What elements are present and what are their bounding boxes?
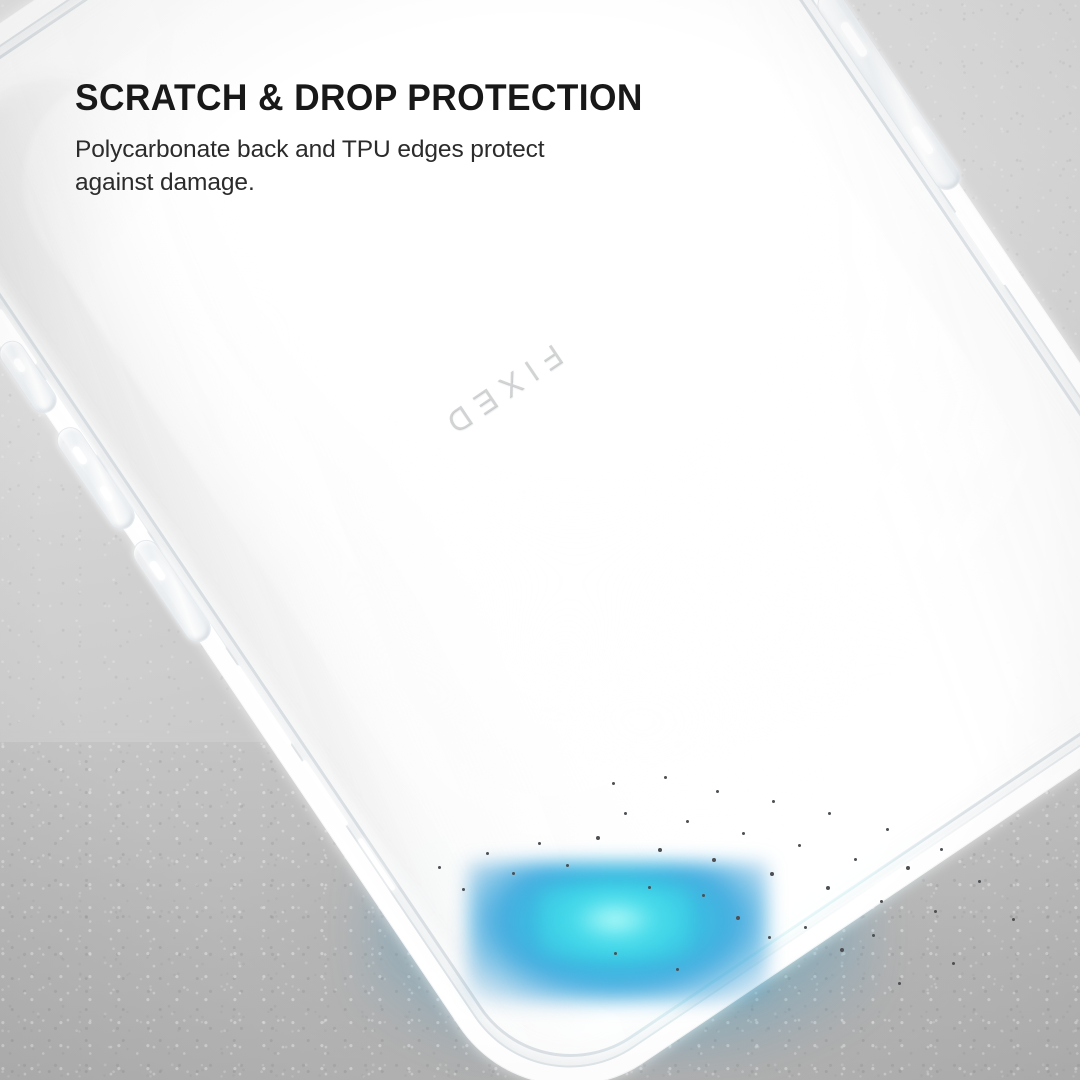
subtext: Polycarbonate back and TPU edges protect… <box>75 134 620 200</box>
copy-block: SCRATCH & DROP PROTECTION Polycarbonate … <box>75 78 695 200</box>
headline: SCRATCH & DROP PROTECTION <box>75 78 667 117</box>
product-scene: FIXED <box>0 0 1080 1080</box>
